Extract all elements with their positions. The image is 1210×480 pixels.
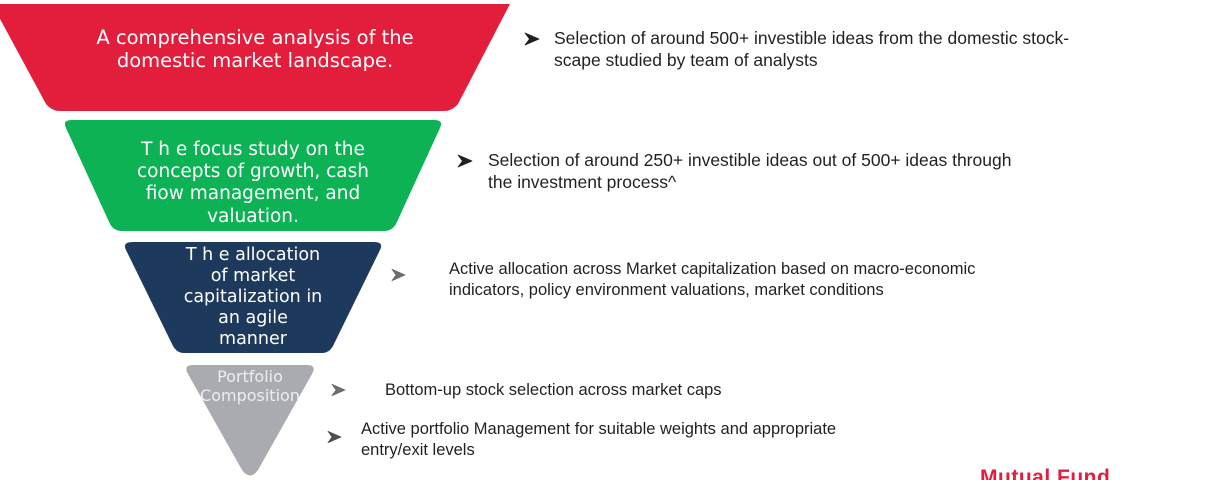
arrow-bullet-icon [331, 383, 347, 397]
arrow-bullet-icon [524, 32, 541, 46]
bullet-item-4-text: Bottom-up stock selection across market … [385, 380, 1085, 401]
funnel-segment-4-shape [186, 365, 313, 476]
bullet-item-4: Bottom-up stock selection across market … [331, 380, 1131, 401]
bullet-item-5-text: Active portfolio Management for suitable… [361, 419, 1061, 461]
funnel-diagram: A comprehensive analysis of the domestic… [0, 0, 1210, 480]
bullet-item-5: Active portfolio Management for suitable… [327, 419, 1127, 461]
bullet-item-2-text: Selection of around 250+ investible idea… [488, 149, 1197, 194]
bullet-item-3: Active allocation across Market capitali… [391, 259, 1181, 301]
arrow-bullet-icon [391, 268, 407, 282]
funnel-segment-3-shape [125, 242, 381, 353]
arrow-bullet-icon [457, 154, 474, 168]
funnel-segment-1-shape [0, 4, 510, 111]
bullet-item-3-text: Active allocation across Market capitali… [449, 259, 1149, 301]
bullet-item-2: Selection of around 250+ investible idea… [457, 149, 1197, 194]
bullet-item-1: Selection of around 500+ investible idea… [524, 27, 1210, 72]
funnel-segment-2-shape [65, 120, 441, 231]
footer-brand-text: Mutual Fund [980, 466, 1210, 480]
bullet-item-1-text: Selection of around 500+ investible idea… [554, 27, 1210, 72]
funnel-shapes [0, 0, 1210, 480]
arrow-bullet-icon [327, 430, 343, 444]
footer-brand-label: Mutual Fund [980, 466, 1110, 480]
